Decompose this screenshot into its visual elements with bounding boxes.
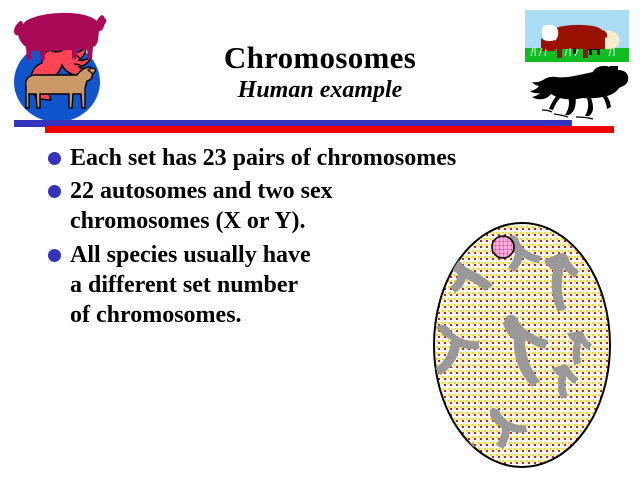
divider-rule-red [45,126,614,133]
cattle-pasture-photo [525,10,629,62]
bullet-text: 22 autosomes and two sex chromosomes (X … [70,176,333,236]
galloping-horse-silhouette [514,66,634,124]
bullet-text: Each set has 23 pairs of chromosomes [70,143,456,173]
bullet-text: All species usually have a different set… [70,240,311,331]
list-item: Each set has 23 pairs of chromosomes [48,143,548,173]
bullet-dot-icon [48,185,61,198]
nucleolus-icon [492,236,514,258]
livestock-emblem-logo [2,2,114,124]
page-subtitle: Human example [130,77,510,105]
slide-canvas: Chromosomes Human example [0,0,640,480]
bullet-dot-icon [48,152,61,165]
cell-with-chromosomes [424,214,620,476]
page-title: Chromosomes [130,42,510,75]
title-block: Chromosomes Human example [130,42,510,104]
bullet-dot-icon [48,249,61,262]
